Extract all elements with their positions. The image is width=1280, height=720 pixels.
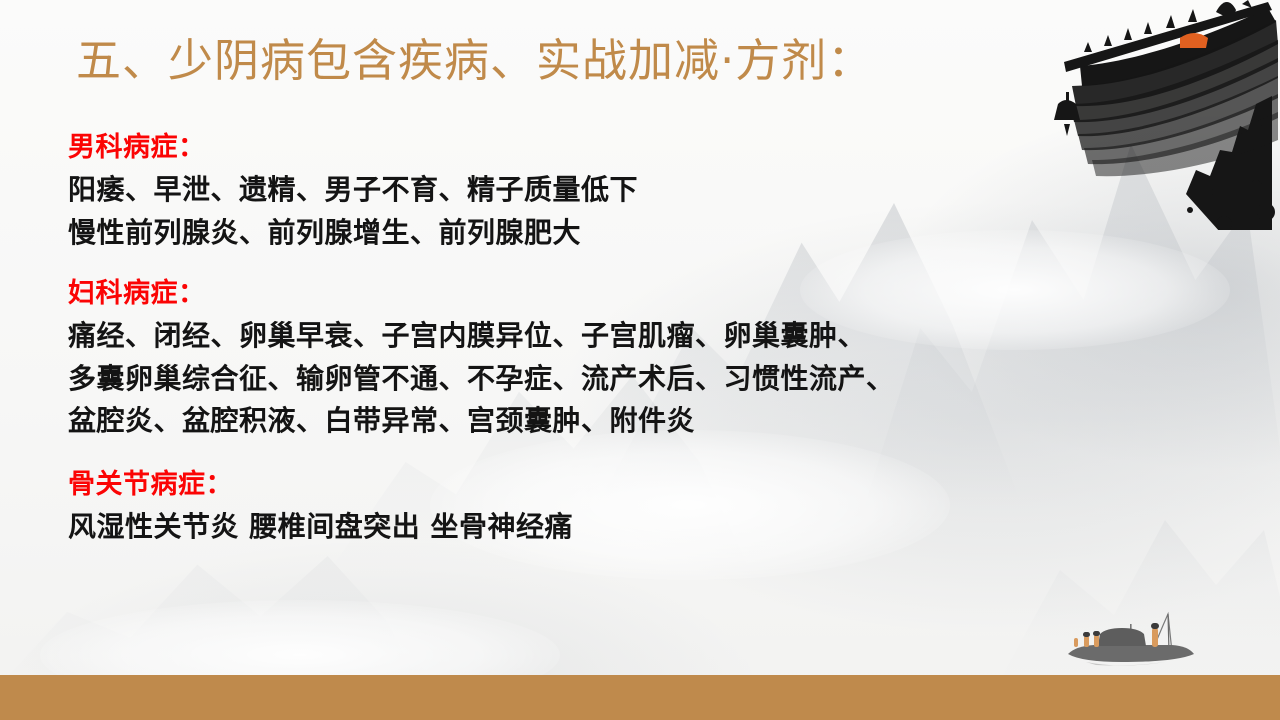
- section-bone-joint-diseases: 骨关节病症： 风湿性关节炎 腰椎间盘突出 坐骨神经痛: [68, 465, 1198, 549]
- section-male-diseases: 男科病症： 阳痿、早泄、遗精、男子不育、精子质量低下 慢性前列腺炎、前列腺增生、…: [68, 128, 1198, 254]
- presentation-slide: 五、少阴病包含疾病、实战加减·方剂： 男科病症： 阳痿、早泄、遗精、男子不育、精…: [0, 0, 1280, 720]
- section-line: 痛经、闭经、卵巢早衰、子宫内膜异位、子宫肌瘤、卵巢囊肿、: [68, 315, 1198, 358]
- page-title: 五、少阴病包含疾病、实战加减·方剂：: [76, 36, 873, 86]
- section-heading: 骨关节病症：: [68, 465, 1198, 504]
- section-line: 阳痿、早泄、遗精、男子不育、精子质量低下: [68, 169, 1198, 212]
- slide-content: 五、少阴病包含疾病、实战加减·方剂： 男科病症： 阳痿、早泄、遗精、男子不育、精…: [0, 0, 1280, 720]
- section-line: 慢性前列腺炎、前列腺增生、前列腺肥大: [68, 212, 1198, 255]
- section-gynecology-diseases: 妇科病症： 痛经、闭经、卵巢早衰、子宫内膜异位、子宫肌瘤、卵巢囊肿、 多囊卵巢综…: [68, 274, 1198, 443]
- section-line: 盆腔炎、盆腔积液、白带异常、宫颈囊肿、附件炎: [68, 400, 1198, 443]
- section-heading: 男科病症：: [68, 128, 1198, 167]
- section-line: 风湿性关节炎 腰椎间盘突出 坐骨神经痛: [68, 506, 1198, 549]
- section-heading: 妇科病症：: [68, 274, 1198, 313]
- section-line: 多囊卵巢综合征、输卵管不通、不孕症、流产术后、习惯性流产、: [68, 358, 1198, 401]
- disease-list-body: 男科病症： 阳痿、早泄、遗精、男子不育、精子质量低下 慢性前列腺炎、前列腺增生、…: [68, 128, 1198, 563]
